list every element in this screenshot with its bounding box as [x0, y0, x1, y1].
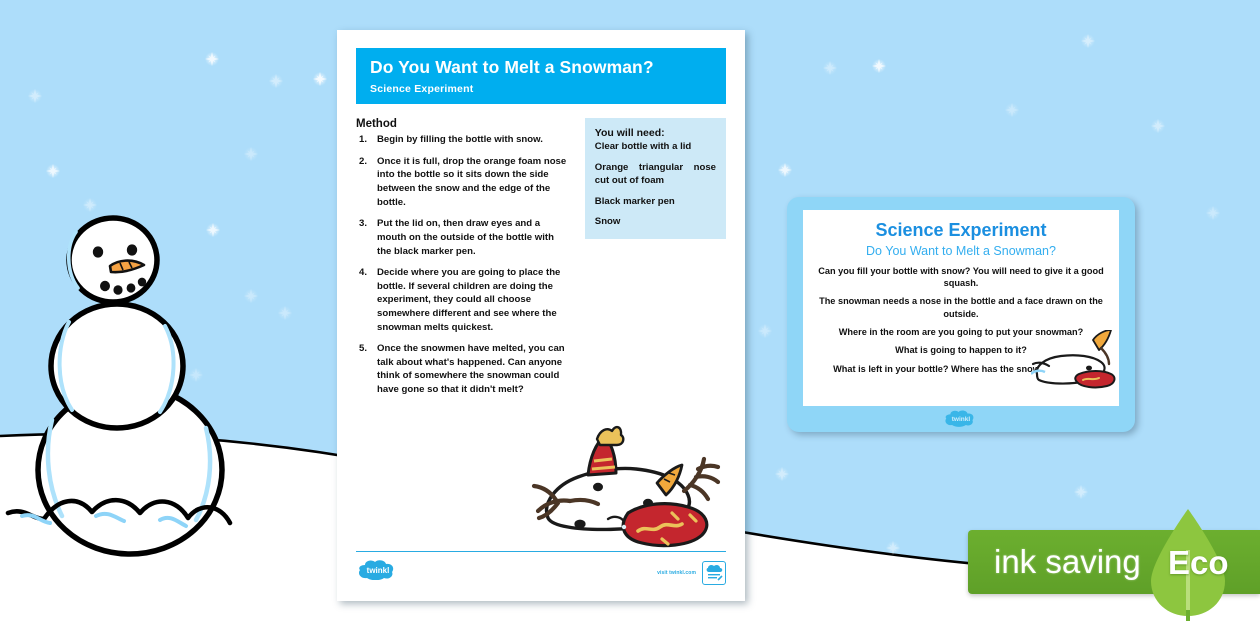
- worksheet-page[interactable]: Do You Want to Melt a Snowman? Science E…: [337, 30, 745, 601]
- worksheet-subtitle: Science Experiment: [370, 83, 712, 95]
- poster-subtitle: Do You Want to Melt a Snowman?: [812, 244, 1110, 258]
- twinkl-logo: twinkl: [787, 410, 1135, 427]
- you-will-need-box: You will need: Clear bottle with a lid O…: [585, 118, 726, 239]
- you-will-need-item: Clear bottle with a lid: [595, 140, 716, 153]
- you-will-need-item: Snow: [595, 215, 716, 228]
- method-step: Begin by filling the bottle with snow.: [356, 133, 571, 147]
- poster-line: What is going to happen to it?: [812, 344, 1110, 356]
- melted-snowman-illustration: [1031, 330, 1119, 392]
- poster-title: Science Experiment: [812, 221, 1110, 241]
- twinkl-logo: twinkl: [356, 560, 400, 585]
- poster-line: Can you fill your bottle with snow? You …: [812, 265, 1110, 290]
- method-step: Put the lid on, then draw eyes and a mou…: [356, 217, 571, 258]
- ink-saving-eco-banner: ink saving Eco: [968, 530, 1260, 594]
- svg-text:twinkl: twinkl: [367, 566, 390, 575]
- ink-saving-label: ink saving: [994, 543, 1141, 581]
- worksheet-title: Do You Want to Melt a Snowman?: [370, 58, 712, 77]
- poster-line: What is left in your bottle? Where has t…: [812, 363, 1110, 375]
- screenshot-canvas: Do You Want to Melt a Snowman? Science E…: [0, 0, 1260, 630]
- method-step: Decide where you are going to place the …: [356, 266, 571, 334]
- poster-line: Where in the room are you going to put y…: [812, 326, 1110, 338]
- method-column: Method Begin by filling the bottle with …: [356, 118, 571, 404]
- method-step-list: Begin by filling the bottle with snow. O…: [356, 133, 571, 396]
- eco-label: Eco: [1168, 544, 1229, 582]
- worksheet-footer: twinkl visit twinkl.com: [356, 551, 726, 589]
- twinkl-badge-icon: [702, 561, 726, 585]
- visit-twinkl-link[interactable]: visit twinkl.com: [657, 570, 696, 576]
- science-experiment-poster[interactable]: Science Experiment Do You Want to Melt a…: [787, 197, 1135, 432]
- you-will-need-heading: You will need:: [595, 127, 716, 139]
- worksheet-title-bar: Do You Want to Melt a Snowman? Science E…: [356, 48, 726, 104]
- you-will-need-item: Orange triangular nose cut out of foam: [595, 161, 716, 188]
- poster-line: The snowman needs a nose in the bottle a…: [812, 295, 1110, 320]
- you-will-need-item: Black marker pen: [595, 195, 716, 208]
- method-step: Once the snowmen have melted, you can ta…: [356, 342, 571, 396]
- method-step: Once it is full, drop the orange foam no…: [356, 155, 571, 209]
- method-heading: Method: [356, 118, 571, 130]
- poster-inner-panel: Science Experiment Do You Want to Melt a…: [803, 210, 1119, 406]
- melted-snowman-illustration: [512, 415, 737, 550]
- you-will-need-column: You will need: Clear bottle with a lid O…: [585, 118, 726, 404]
- svg-text:twinkl: twinkl: [952, 416, 971, 423]
